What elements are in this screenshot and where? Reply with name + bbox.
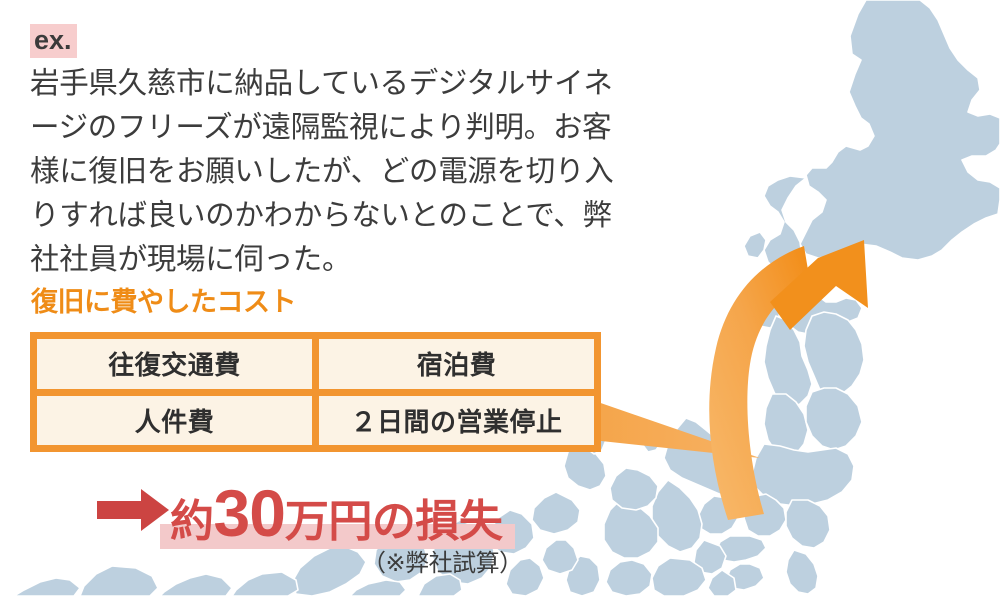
cost-cell-lodging: 宿泊費 [319, 339, 594, 389]
red-right-arrow-icon [97, 489, 169, 531]
map-region-hokkaido-oshima [744, 232, 766, 258]
map-region-yamanashi [694, 540, 726, 574]
map-region-gunma [698, 496, 738, 534]
map-region-ibaraki [786, 500, 830, 548]
map-region-mie [566, 556, 600, 596]
result-amount: 30 [214, 476, 285, 550]
curved-arrow-head [770, 240, 868, 330]
cost-cell-downtime: ２日間の営業停止 [319, 396, 594, 446]
map-region-chiba [786, 550, 818, 594]
curved-arrow-body [709, 246, 810, 520]
map-region-fukushima [752, 444, 854, 506]
map-region-niigata [664, 418, 752, 502]
map-region-tokyo [726, 564, 764, 590]
cost-cell-labor: 人件費 [37, 396, 312, 446]
result-suffix: 万円の損失 [285, 497, 503, 546]
map-region-hokkaido [800, 0, 1000, 260]
map-region-tochigi [744, 494, 786, 536]
table-to-map-connector [592, 400, 760, 458]
map-region-okayama [418, 574, 462, 596]
map-region-kyushu-north [80, 566, 158, 596]
map-region-sado [642, 428, 662, 452]
map-region-hiroshima [350, 580, 406, 596]
map-region-aichi [606, 560, 652, 596]
map-region-akita [764, 316, 812, 408]
example-body-text: 岩手県久慈市に納品しているデジタルサイネージのフリーズが遠隔監視により判明。お客… [30, 62, 630, 282]
map-region-fukui [532, 492, 580, 534]
infographic-canvas: ex. 岩手県久慈市に納品しているデジタルサイネージのフリーズが遠隔監視により判… [0, 0, 1000, 596]
map-region-gifu [604, 500, 658, 558]
result-prefix: 約 [170, 497, 214, 546]
cost-breakdown-table: 往復交通費 宿泊費 人件費 ２日間の営業停止 [30, 332, 601, 452]
map-region-yamagata [764, 394, 808, 458]
map-region-kyushu-edge [14, 578, 80, 596]
map-region-hokkaido-southwest [764, 176, 806, 272]
map-region-aomori [774, 258, 862, 334]
map-region-aomori-tsugaru [756, 300, 780, 328]
map-region-kanagawa [708, 570, 736, 596]
example-badge: ex. [30, 24, 77, 58]
map-region-toyama [610, 468, 658, 510]
map-region-nagano [652, 480, 702, 552]
map-region-iwate [804, 312, 864, 396]
map-region-shimane [292, 546, 366, 596]
cost-section-heading: 復旧に費やしたコスト [31, 289, 296, 316]
map-region-west-tip [160, 574, 232, 596]
result-footnote: （※弊社試算） [362, 552, 523, 576]
map-region-yamaguchi [232, 572, 298, 596]
map-region-saitama [716, 536, 766, 562]
map-region-shiga [542, 540, 578, 574]
map-region-shizuoka [652, 558, 706, 596]
map-region-miyagi [806, 388, 862, 450]
result-loss-amount: 約30万円の損失 [170, 480, 502, 546]
cost-cell-transport: 往復交通費 [37, 339, 312, 389]
